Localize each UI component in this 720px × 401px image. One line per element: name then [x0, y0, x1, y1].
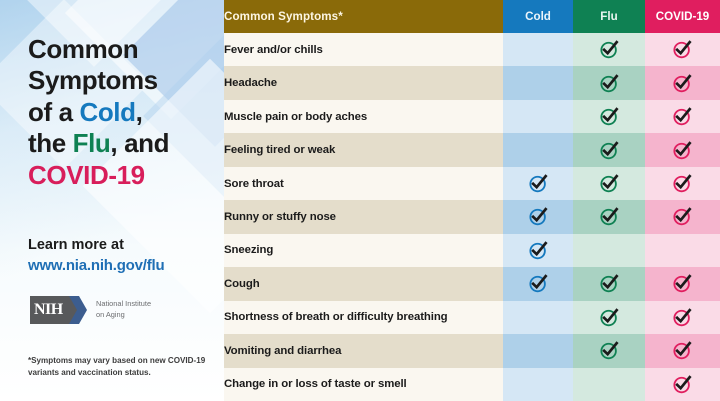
- cell-flu: [573, 301, 645, 334]
- nia-wordmark-line-2: on Aging: [96, 310, 151, 321]
- check-circle-icon: [599, 340, 620, 361]
- check-circle-icon: [672, 39, 693, 60]
- column-header-symptom: Common Symptoms*: [224, 0, 503, 33]
- symptom-label: Vomiting and diarrhea: [224, 334, 503, 367]
- cell-covid: [645, 334, 720, 367]
- cell-flu: [573, 100, 645, 133]
- column-header-cold: Cold: [503, 0, 573, 33]
- nih-logo-text: NIH: [34, 301, 63, 319]
- left-panel: Common Symptoms of a Cold, the Flu, and …: [0, 0, 224, 401]
- table-body: Fever and/or chillsHeadacheMuscle pain o…: [224, 33, 720, 401]
- table-row: Shortness of breath or difficulty breath…: [224, 301, 720, 334]
- cell-flu: [573, 200, 645, 233]
- cell-cold: [503, 234, 573, 267]
- title-word-covid: COVID-19: [28, 160, 145, 190]
- table-row: Sneezing: [224, 234, 720, 267]
- symptom-label: Muscle pain or body aches: [224, 100, 503, 133]
- check-circle-icon: [599, 206, 620, 227]
- check-circle-icon: [672, 173, 693, 194]
- table-row: Feeling tired or weak: [224, 133, 720, 166]
- cell-flu: [573, 66, 645, 99]
- chevron-right-icon: [69, 296, 87, 324]
- symptom-label: Cough: [224, 267, 503, 300]
- symptom-label: Fever and/or chills: [224, 33, 503, 66]
- nih-nia-logo: NIH National Institute on Aging: [30, 296, 151, 324]
- check-circle-icon: [599, 140, 620, 161]
- cell-covid: [645, 301, 720, 334]
- column-header-flu: Flu: [573, 0, 645, 33]
- nih-logo-mark: NIH: [30, 296, 78, 324]
- cell-covid: [645, 267, 720, 300]
- cell-covid: [645, 100, 720, 133]
- symptom-label: Shortness of breath or difficulty breath…: [224, 301, 503, 334]
- cell-cold: [503, 334, 573, 367]
- nia-wordmark-line-1: National Institute: [96, 299, 151, 310]
- check-circle-icon: [672, 374, 693, 395]
- check-circle-icon: [599, 307, 620, 328]
- symptom-label: Sneezing: [224, 234, 503, 267]
- title-line-3-prefix: of a: [28, 97, 79, 127]
- cell-covid: [645, 200, 720, 233]
- cell-cold: [503, 100, 573, 133]
- check-circle-icon: [528, 173, 549, 194]
- table-row: Muscle pain or body aches: [224, 100, 720, 133]
- check-circle-icon: [599, 73, 620, 94]
- cell-flu: [573, 368, 645, 401]
- check-circle-icon: [672, 206, 693, 227]
- title-line-3-suffix: ,: [136, 97, 143, 127]
- learn-more-block: Learn more at www.nia.nih.gov/flu: [28, 236, 224, 276]
- check-circle-icon: [528, 273, 549, 294]
- table-row: Fever and/or chills: [224, 33, 720, 66]
- title-word-cold: Cold: [79, 97, 135, 127]
- table-row: Cough: [224, 267, 720, 300]
- cell-cold: [503, 368, 573, 401]
- cell-cold: [503, 133, 573, 166]
- cell-cold: [503, 200, 573, 233]
- check-circle-icon: [599, 39, 620, 60]
- cell-covid: [645, 33, 720, 66]
- check-circle-icon: [599, 106, 620, 127]
- cell-covid: [645, 368, 720, 401]
- check-circle-icon: [528, 240, 549, 261]
- check-circle-icon: [672, 307, 693, 328]
- check-circle-icon: [599, 173, 620, 194]
- website-url-link[interactable]: www.nia.nih.gov/flu: [28, 256, 224, 276]
- cell-flu: [573, 133, 645, 166]
- table-row: Sore throat: [224, 167, 720, 200]
- check-circle-icon: [672, 106, 693, 127]
- table-row: Change in or loss of taste or smell: [224, 368, 720, 401]
- title-line-2: Symptoms: [28, 65, 158, 95]
- cell-flu: [573, 334, 645, 367]
- check-circle-icon: [672, 140, 693, 161]
- cell-cold: [503, 66, 573, 99]
- title-line-4-suffix: , and: [110, 128, 169, 158]
- table-row: Headache: [224, 66, 720, 99]
- cell-cold: [503, 167, 573, 200]
- table-row: Vomiting and diarrhea: [224, 334, 720, 367]
- cell-cold: [503, 301, 573, 334]
- cell-cold: [503, 33, 573, 66]
- column-header-covid: COVID-19: [645, 0, 720, 33]
- cell-flu: [573, 234, 645, 267]
- cell-flu: [573, 267, 645, 300]
- symptom-label: Sore throat: [224, 167, 503, 200]
- cell-covid: [645, 167, 720, 200]
- symptom-label: Headache: [224, 66, 503, 99]
- page-title: Common Symptoms of a Cold, the Flu, and …: [28, 34, 218, 191]
- table-header-row: Common Symptoms* Cold Flu COVID-19: [224, 0, 720, 33]
- title-line-1: Common: [28, 34, 138, 64]
- title-word-flu: Flu: [73, 128, 111, 158]
- check-circle-icon: [672, 273, 693, 294]
- cell-covid: [645, 234, 720, 267]
- check-circle-icon: [672, 73, 693, 94]
- infographic-poster: Common Symptoms of a Cold, the Flu, and …: [0, 0, 720, 401]
- symptom-comparison-table: Common Symptoms* Cold Flu COVID-19 Fever…: [224, 0, 720, 401]
- cell-cold: [503, 267, 573, 300]
- check-circle-icon: [528, 206, 549, 227]
- symptom-label: Runny or stuffy nose: [224, 200, 503, 233]
- check-circle-icon: [599, 273, 620, 294]
- table-row: Runny or stuffy nose: [224, 200, 720, 233]
- cell-covid: [645, 133, 720, 166]
- symptom-label: Change in or loss of taste or smell: [224, 368, 503, 401]
- symptom-label: Feeling tired or weak: [224, 133, 503, 166]
- check-circle-icon: [672, 340, 693, 361]
- table-header: Common Symptoms* Cold Flu COVID-19: [224, 0, 720, 33]
- nia-logo-wordmark: National Institute on Aging: [85, 299, 151, 320]
- cell-flu: [573, 167, 645, 200]
- title-line-4-prefix: the: [28, 128, 73, 158]
- learn-more-label: Learn more at: [28, 237, 124, 253]
- cell-covid: [645, 66, 720, 99]
- footnote-text: *Symptoms may vary based on new COVID-19…: [28, 355, 220, 378]
- cell-flu: [573, 33, 645, 66]
